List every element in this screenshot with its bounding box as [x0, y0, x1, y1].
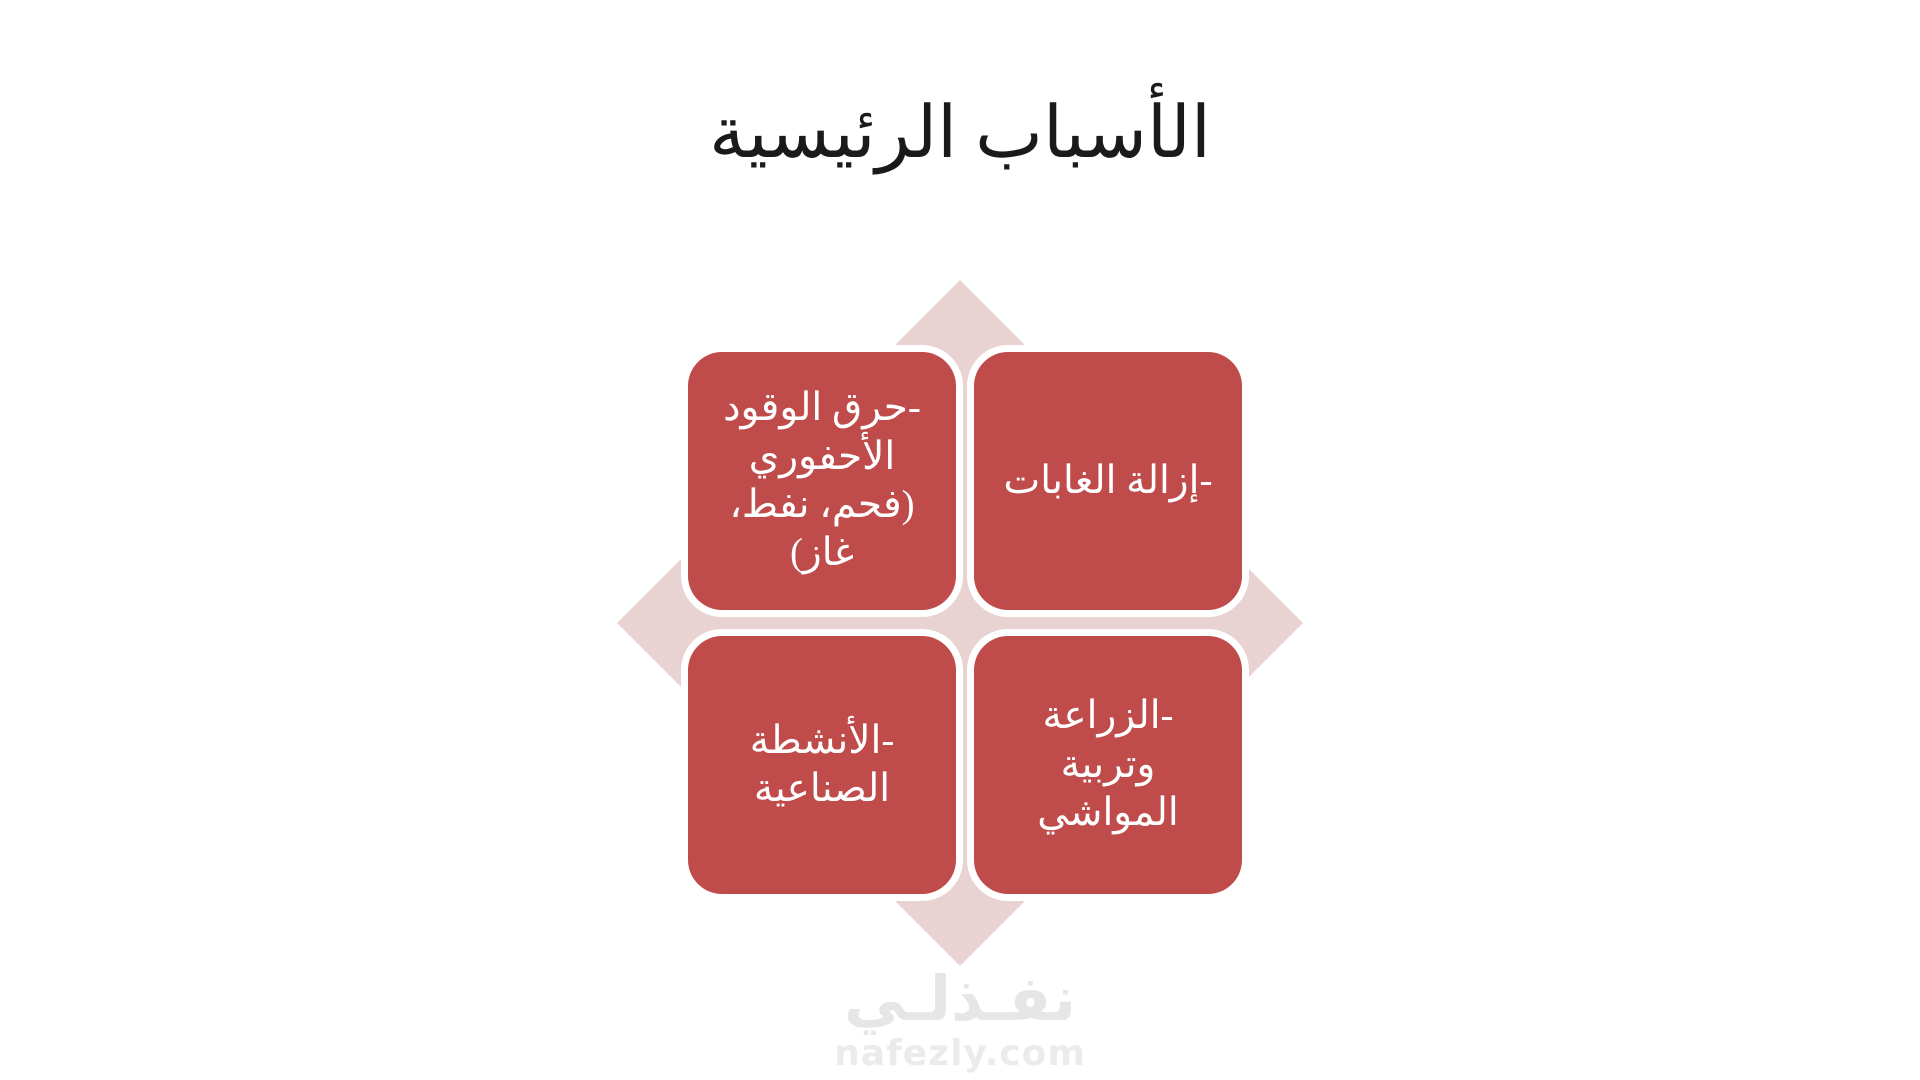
quadrant-box-bottom-left[interactable]: -الأنشطة الصناعية [688, 636, 956, 894]
slide-canvas: الأسباب الرئيسية -حرق الوقود الأحفوري (ف… [0, 0, 1920, 1080]
quadrant-box-top-right[interactable]: -إزالة الغابات [974, 352, 1242, 610]
quadrant-label-top-left: -حرق الوقود الأحفوري (فحم، نفط، غاز) [710, 384, 934, 577]
watermark-arabic-text: نفـذلـي [0, 968, 1920, 1030]
smartart-diagram: -حرق الوقود الأحفوري (فحم، نفط، غاز) -إز… [617, 280, 1303, 966]
page-title: الأسباب الرئيسية [0, 92, 1920, 175]
quadrant-label-bottom-left: -الأنشطة الصناعية [710, 717, 934, 814]
quadrant-box-top-left[interactable]: -حرق الوقود الأحفوري (فحم، نفط، غاز) [688, 352, 956, 610]
watermark: نفـذلـي nafezly.com [0, 968, 1920, 1072]
quadrant-box-bottom-right[interactable]: -الزراعة وتربية المواشي [974, 636, 1242, 894]
quadrant-label-top-right: -إزالة الغابات [1004, 457, 1213, 505]
watermark-domain-text: nafezly.com [0, 1036, 1920, 1072]
quadrant-label-bottom-right: -الزراعة وتربية المواشي [996, 692, 1220, 837]
